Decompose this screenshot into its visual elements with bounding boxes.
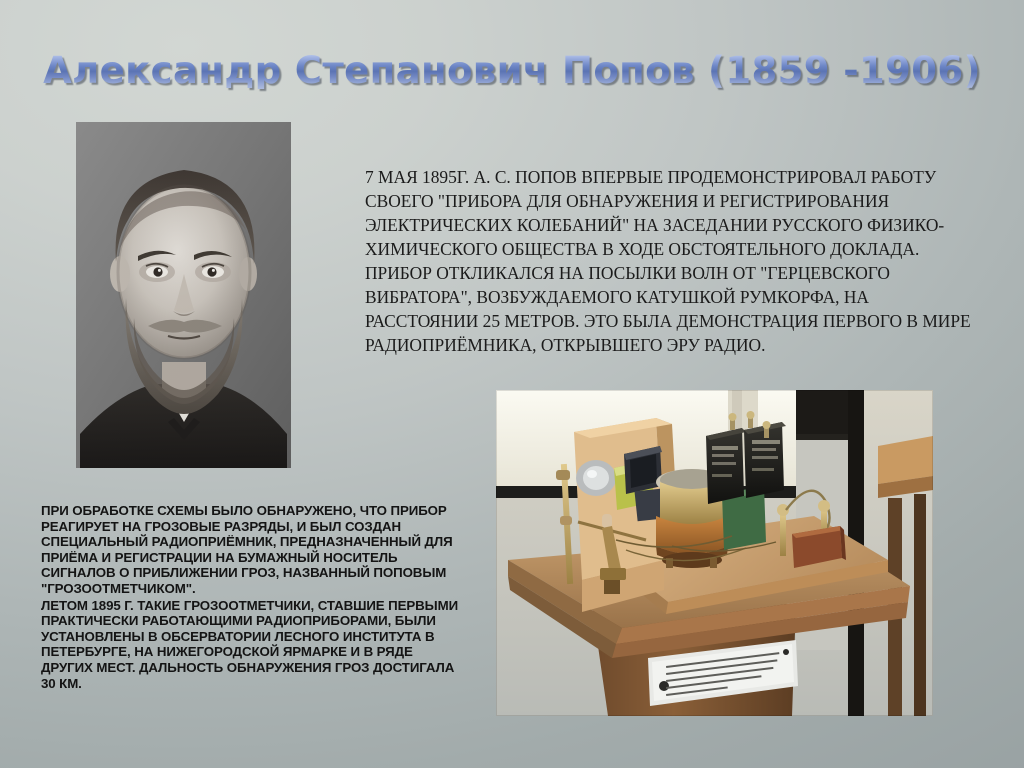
lower-paragraph-first: ПРИ ОБРАБОТКЕ СХЕМЫ БЫЛО ОБНАРУЖЕНО, ЧТО… bbox=[41, 503, 461, 597]
lower-text-block: ПРИ ОБРАБОТКЕ СХЕМЫ БЫЛО ОБНАРУЖЕНО, ЧТО… bbox=[41, 503, 461, 691]
main-paragraph: 7 МАЯ 1895Г. А. С. ПОПОВ ВПЕРВЫЕ ПРОДЕМО… bbox=[365, 165, 975, 357]
title-block: Александр Степанович Попов (1859 -1906) bbox=[0, 52, 1024, 89]
portrait-popov bbox=[76, 122, 291, 468]
photo-lightning-detector bbox=[496, 390, 933, 716]
slide: Александр Степанович Попов (1859 -1906) bbox=[0, 0, 1024, 768]
lower-paragraph-second: ЛЕТОМ 1895 Г. ТАКИЕ ГРОЗООТМЕТЧИКИ, СТАВ… bbox=[41, 598, 461, 692]
page-title: Александр Степанович Попов (1859 -1906) bbox=[43, 52, 981, 89]
